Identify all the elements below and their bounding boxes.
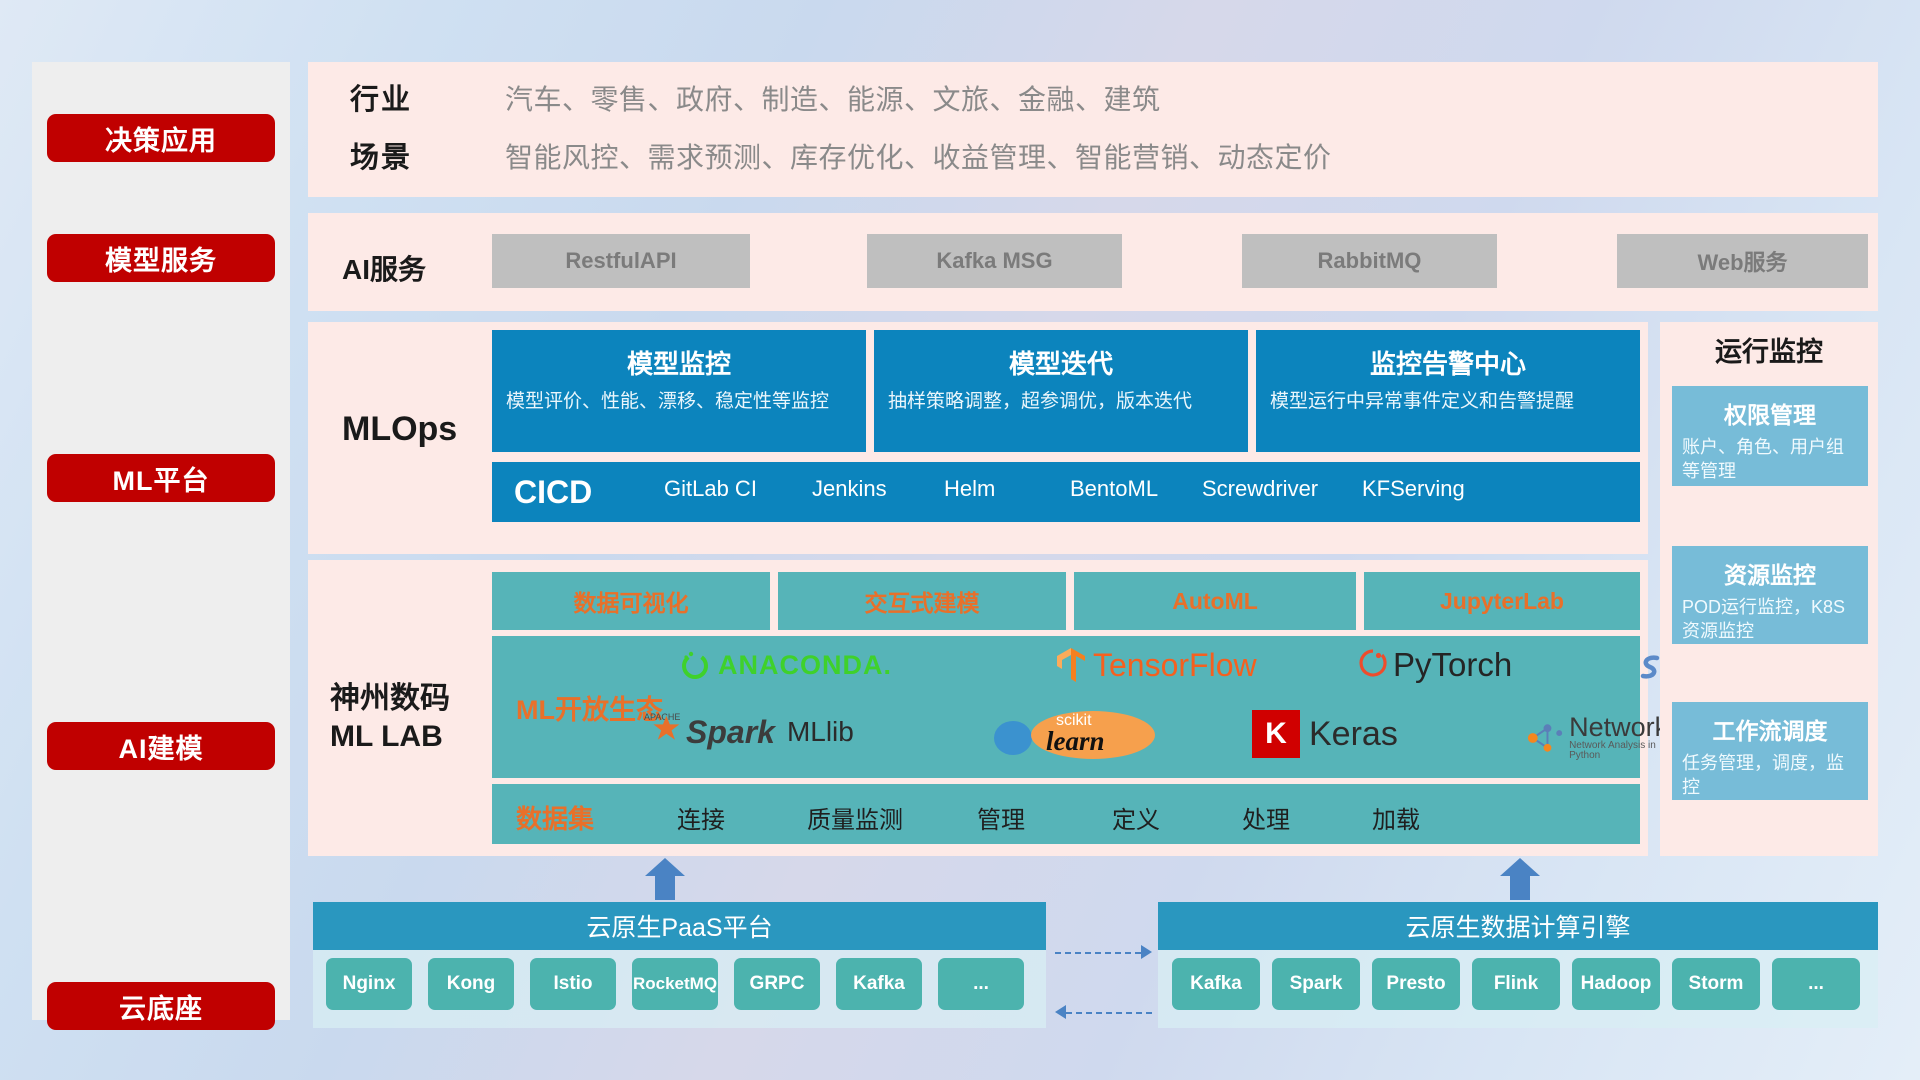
mlops-card-model-iteration[interactable]: 模型迭代 抽样策略调整，超参调优，版本迭代 [874, 330, 1248, 452]
dataset-item-process[interactable]: 处理 [1242, 800, 1290, 835]
mlops-card-model-monitoring[interactable]: 模型监控 模型评价、性能、漂移、稳定性等监控 [492, 330, 866, 452]
card-description: 模型评价、性能、漂移、稳定性等监控 [506, 389, 852, 414]
industry-label: 行业 [350, 76, 412, 118]
scikit-learn-logo: scikit learn [992, 710, 1156, 765]
paas-platform-header: 云原生PaaS平台 [313, 902, 1046, 950]
connector-paas-to-engine [1055, 952, 1141, 954]
monitor-card-permissions[interactable]: 权限管理 账户、角色、用户组等管理 [1672, 386, 1868, 486]
service-button-kafka-msg[interactable]: Kafka MSG [867, 234, 1122, 288]
engine-chip-spark[interactable]: Spark [1272, 958, 1360, 1010]
keras-wordmark: Keras [1309, 715, 1398, 754]
anaconda-logo: ANACONDA. [678, 648, 892, 682]
dataset-item-quality-monitor[interactable]: 质量监测 [807, 800, 903, 835]
stage-chip-model-service[interactable]: 模型服务 [47, 234, 275, 282]
card-description: POD运行监控，K8S资源监控 [1682, 596, 1858, 644]
architecture-diagram: 决策应用 模型服务 ML平台 AI建模 云底座 行业 汽车、零售、政府、制造、能… [0, 0, 1920, 1080]
paas-chip-istio[interactable]: Istio [530, 958, 616, 1010]
connector-engine-to-paas [1066, 1012, 1152, 1014]
card-description: 模型运行中异常事件定义和告警提醒 [1270, 389, 1626, 414]
dataset-item-connect[interactable]: 连接 [677, 800, 725, 835]
cicd-item-bentoml[interactable]: BentoML [1070, 476, 1182, 501]
card-title: 模型迭代 [888, 344, 1234, 381]
dataset-item-load[interactable]: 加载 [1372, 800, 1420, 835]
stage-chip-decision-apps[interactable]: 决策应用 [47, 114, 275, 162]
scenario-label: 场景 [350, 134, 412, 176]
stage-chip-ml-platform[interactable]: ML平台 [47, 454, 275, 502]
pytorch-logo: PyTorch [1358, 646, 1512, 684]
ml-ecosystem-label: ML开放生态 [516, 688, 663, 727]
engine-chip-more[interactable]: ... [1772, 958, 1860, 1010]
scenario-list: 智能风控、需求预测、库存优化、收益管理、智能营销、动态定价 [505, 136, 1332, 176]
cicd-item-kfserving[interactable]: KFServing [1362, 476, 1474, 501]
keras-mark: K [1252, 710, 1300, 758]
paas-chip-kong[interactable]: Kong [428, 958, 514, 1010]
card-description: 账户、角色、用户组等管理 [1682, 436, 1858, 484]
arrow-up-paas [645, 858, 685, 900]
spark-mllib-logo: APACHE Spark MLlib [644, 708, 854, 756]
engine-chip-hadoop[interactable]: Hadoop [1572, 958, 1660, 1010]
card-title: 资源监控 [1682, 556, 1858, 590]
dataset-item-manage[interactable]: 管理 [977, 800, 1025, 835]
mlops-card-alert-center[interactable]: 监控告警中心 模型运行中异常事件定义和告警提醒 [1256, 330, 1640, 452]
anaconda-wordmark: ANACONDA. [718, 650, 892, 681]
ml-ecosystem-band: ML开放生态 ANACONDA. TensorFlow PyTorch sas … [492, 636, 1640, 778]
svg-text:APACHE: APACHE [644, 712, 680, 722]
paas-chip-rocketmq[interactable]: RocketMQ [632, 958, 718, 1010]
learn-wordmark: learn [1046, 726, 1105, 757]
cicd-item-helm[interactable]: Helm [944, 476, 1056, 501]
cicd-item-screwdriver[interactable]: Screwdriver [1202, 476, 1314, 501]
card-description: 任务管理，调度，监控 [1682, 752, 1858, 800]
dataset-item-define[interactable]: 定义 [1112, 800, 1160, 835]
spark-wordmark: Spark [686, 714, 775, 751]
mlops-label: MLOps [342, 410, 457, 449]
dataset-title: 数据集 [516, 799, 594, 836]
engine-chip-flink[interactable]: Flink [1472, 958, 1560, 1010]
engine-chip-storm[interactable]: Storm [1672, 958, 1760, 1010]
card-title: 监控告警中心 [1270, 344, 1626, 381]
monitor-card-workflow[interactable]: 工作流调度 任务管理，调度，监控 [1672, 702, 1868, 800]
monitor-card-resources[interactable]: 资源监控 POD运行监控，K8S资源监控 [1672, 546, 1868, 644]
cicd-title: CICD [514, 474, 592, 511]
service-button-rabbitmq[interactable]: RabbitMQ [1242, 234, 1497, 288]
stage-rail: 决策应用 模型服务 ML平台 AI建模 云底座 [32, 62, 290, 1020]
data-engine-header: 云原生数据计算引擎 [1158, 902, 1878, 950]
paas-chip-more[interactable]: ... [938, 958, 1024, 1010]
stage-chip-ai-modeling[interactable]: AI建模 [47, 722, 275, 770]
service-button-web[interactable]: Web服务 [1617, 234, 1868, 288]
ai-service-label: AI服务 [342, 248, 426, 288]
card-description: 抽样策略调整，超参调优，版本迭代 [888, 389, 1234, 414]
connector-arrow-right [1141, 945, 1152, 959]
cicd-item-jenkins[interactable]: Jenkins [812, 476, 924, 501]
tensorflow-wordmark: TensorFlow [1093, 647, 1257, 684]
tool-chip-jupyterlab[interactable]: JupyterLab [1364, 572, 1640, 630]
paas-chip-nginx[interactable]: Nginx [326, 958, 412, 1010]
tensorflow-logo: TensorFlow [1054, 646, 1257, 684]
engine-chip-kafka[interactable]: Kafka [1172, 958, 1260, 1010]
tool-chip-automl[interactable]: AutoML [1074, 572, 1356, 630]
engine-chip-presto[interactable]: Presto [1372, 958, 1460, 1010]
pytorch-wordmark: PyTorch [1393, 646, 1512, 684]
card-title: 工作流调度 [1682, 712, 1858, 746]
mllib-wordmark: MLlib [787, 716, 854, 748]
tool-chip-interactive-modeling[interactable]: 交互式建模 [778, 572, 1066, 630]
ml-lab-label: 神州数码 ML LAB [330, 680, 450, 755]
monitoring-title: 运行监控 [1660, 330, 1878, 369]
card-title: 权限管理 [1682, 396, 1858, 430]
service-button-restfulapi[interactable]: RestfulAPI [492, 234, 750, 288]
tool-chip-data-visualization[interactable]: 数据可视化 [492, 572, 770, 630]
cicd-item-gitlab-ci[interactable]: GitLab CI [664, 476, 776, 501]
industry-list: 汽车、零售、政府、制造、能源、文旅、金融、建筑 [505, 78, 1161, 118]
paas-chip-grpc[interactable]: GRPC [734, 958, 820, 1010]
arrow-up-engine [1500, 858, 1540, 900]
keras-logo: K Keras [1252, 710, 1398, 758]
card-title: 模型监控 [506, 344, 852, 381]
dataset-band: 数据集 连接 质量监测 管理 定义 处理 加载 [492, 784, 1640, 844]
connector-arrow-left [1055, 1005, 1066, 1019]
cicd-bar: CICD GitLab CI Jenkins Helm BentoML Scre… [492, 462, 1640, 522]
paas-chip-kafka[interactable]: Kafka [836, 958, 922, 1010]
stage-chip-cloud-foundation[interactable]: 云底座 [47, 982, 275, 1030]
